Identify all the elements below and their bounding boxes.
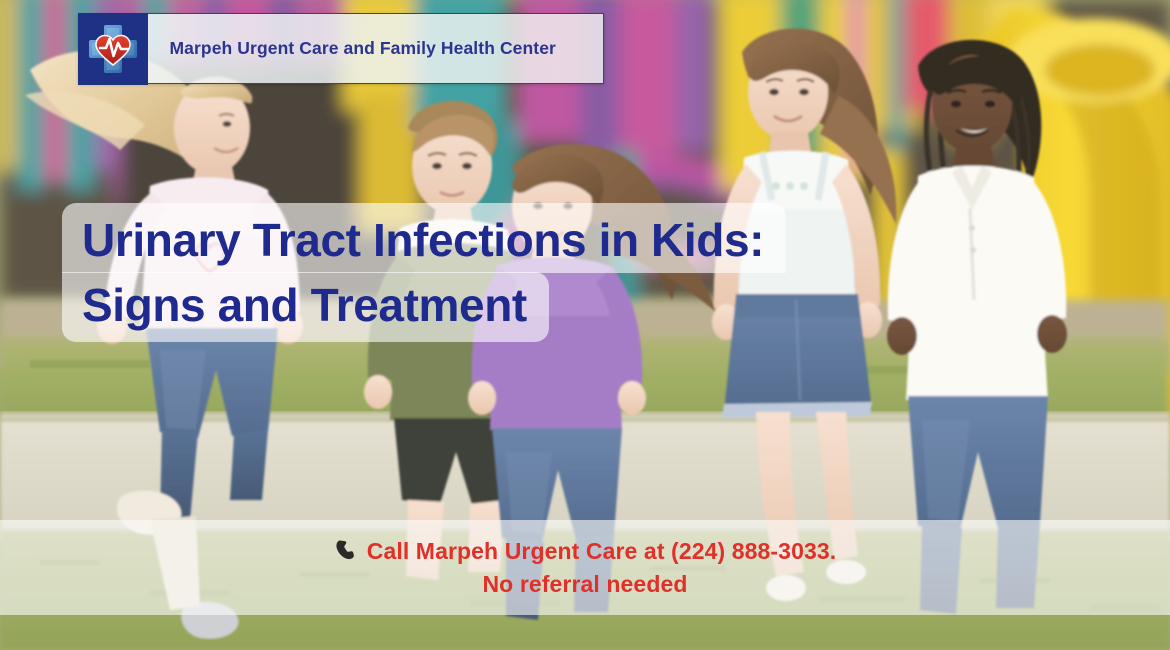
cta-phone-line[interactable]: Call Marpeh Urgent Care at (224) 888-303… <box>334 537 837 565</box>
marpeh-urgent-care-banner: Marpeh Urgent Care and Family Health Cen… <box>0 0 1170 650</box>
call-to-action-band: Call Marpeh Urgent Care at (224) 888-303… <box>0 520 1170 615</box>
headline-block: Urinary Tract Infections in Kids: Signs … <box>62 203 802 342</box>
cta-referral-text: No referral needed <box>482 571 687 597</box>
headline-line-1: Urinary Tract Infections in Kids: <box>62 203 786 273</box>
cta-call-text: Call Marpeh Urgent Care at (224) 888-303… <box>367 538 837 565</box>
cta-referral-line: No referral needed <box>482 571 687 598</box>
clinic-name-label: Marpeh Urgent Care and Family Health Cen… <box>148 14 604 83</box>
telephone-handset-icon <box>334 538 358 566</box>
clinic-header-bar[interactable]: Marpeh Urgent Care and Family Health Cen… <box>78 13 604 84</box>
medical-cross-heart-ekg-logo-icon <box>78 13 148 85</box>
headline-line-2: Signs and Treatment <box>62 272 549 342</box>
